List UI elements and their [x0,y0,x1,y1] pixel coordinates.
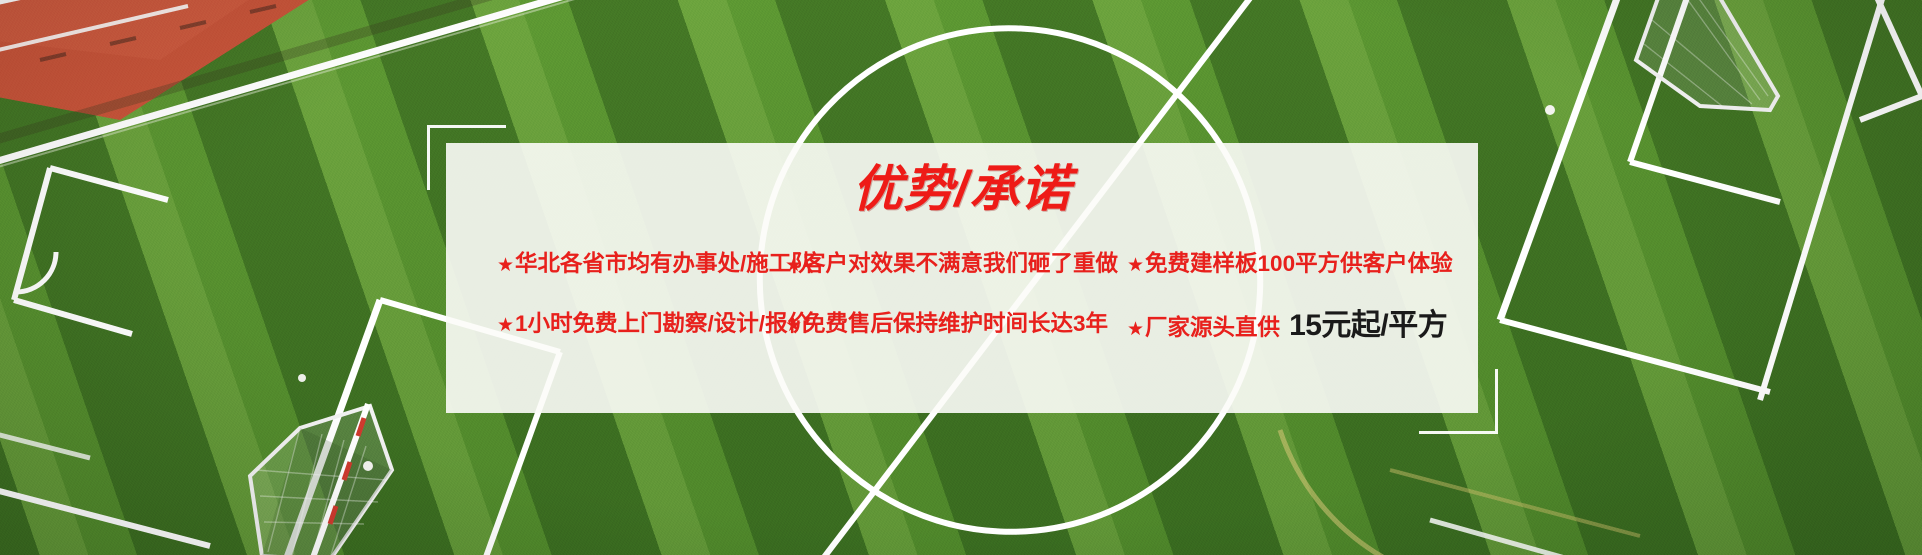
feature-item: ★ 免费售后保持维护时间长达3年 [773,306,1103,338]
feature-row: ★ 华北各省市均有办事处/施工队 ★ 客户对效果不满意我们砸了重做 ★ 免费建样… [446,246,1478,278]
star-icon: ★ [1127,320,1144,339]
star-icon: ★ [785,316,802,335]
feature-text: 客户对效果不满意我们砸了重做 [803,246,1118,278]
star-icon: ★ [497,316,514,335]
feature-text: 厂家源头直供 [1145,310,1280,342]
content-panel: 优势/承诺 ★ 华北各省市均有办事处/施工队 ★ 客户对效果不满意我们砸了重做 … [446,143,1478,413]
feature-item: ★ 客户对效果不满意我们砸了重做 [773,246,1103,278]
feature-item: ★ 华北各省市均有办事处/施工队 [497,246,773,278]
price-label: 15元起/平方 [1289,300,1447,344]
promo-banner: 优势/承诺 ★ 华北各省市均有办事处/施工队 ★ 客户对效果不满意我们砸了重做 … [0,0,1922,555]
feature-item-price: ★ 厂家源头直供 15元起/平方 [1103,300,1427,344]
feature-item: ★ 1小时免费上门勘察/设计/报价 [497,306,773,338]
page-title: 优势/承诺 [853,163,1072,216]
feature-list: ★ 华北各省市均有办事处/施工队 ★ 客户对效果不满意我们砸了重做 ★ 免费建样… [446,246,1478,344]
feature-text: 免费建样板100平方供客户体验 [1145,246,1453,278]
feature-text: 华北各省市均有办事处/施工队 [515,246,814,278]
feature-text: 1小时免费上门勘察/设计/报价 [515,306,810,338]
feature-item: ★ 免费建样板100平方供客户体验 [1103,246,1427,278]
star-icon: ★ [1127,256,1144,275]
feature-text: 免费售后保持维护时间长达3年 [803,306,1108,338]
star-icon: ★ [785,256,802,275]
star-icon: ★ [497,256,514,275]
feature-row: ★ 1小时免费上门勘察/设计/报价 ★ 免费售后保持维护时间长达3年 ★ 厂家源… [446,300,1478,344]
